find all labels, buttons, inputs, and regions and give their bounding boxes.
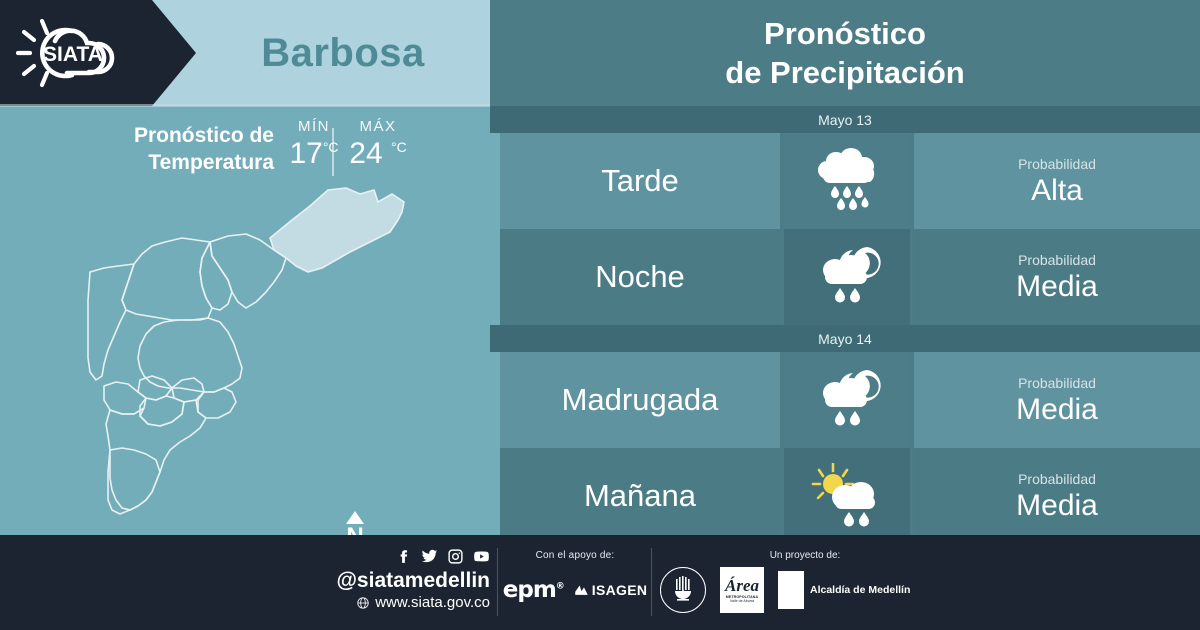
- support-block: Con el apoyo de: epm® ISAGEN: [505, 550, 645, 603]
- city-title: Barbosa: [196, 0, 490, 106]
- forecast-row-noche[interactable]: Noche Probabilidad Media: [490, 229, 1200, 325]
- temperature-max: MÁX 24 °C: [338, 118, 418, 171]
- probability-caption: Probabilidad: [1018, 470, 1096, 488]
- website-url[interactable]: www.siata.gov.co: [375, 593, 490, 612]
- temperature-max-label: MÁX: [338, 118, 418, 135]
- probability-cell-tarde: Probabilidad Alta: [914, 133, 1200, 229]
- epm-logo: epm®: [503, 577, 564, 603]
- temperature-title-line1: Pronóstico de: [134, 124, 274, 147]
- area-logo-script: Área: [725, 577, 759, 594]
- rain-cloud-icon: [784, 133, 910, 229]
- footer: @siatamedellin www.siata.gov.co Con el a…: [0, 535, 1200, 630]
- youtube-icon[interactable]: [473, 548, 490, 565]
- alcaldia-shield-icon: [778, 571, 804, 609]
- epm-logo-text: epm: [503, 577, 556, 603]
- probability-caption: Probabilidad: [1018, 251, 1096, 269]
- footer-divider-2: [651, 548, 652, 616]
- isagen-logo-text: ISAGEN: [592, 582, 647, 598]
- support-logos: epm® ISAGEN: [505, 577, 645, 603]
- map-region-barbosa: [270, 188, 404, 272]
- precipitation-title: Pronóstico de Precipitación: [490, 0, 1200, 106]
- alcaldia-label: Alcaldía de Medellín: [810, 584, 910, 596]
- facebook-icon[interactable]: [395, 548, 412, 565]
- website-line[interactable]: www.siata.gov.co: [300, 593, 490, 612]
- left-header: SIATA Barbosa: [0, 0, 490, 106]
- instagram-icon[interactable]: [447, 548, 464, 565]
- area-logo-line2: Valle de Aburrá: [730, 600, 754, 604]
- project-logos: Área METROPOLITANA Valle de Aburrá Alcal…: [660, 567, 960, 613]
- forecast-row-madrugada[interactable]: Madrugada Probabilidad Media: [490, 352, 1200, 448]
- siata-logo-text: SIATA: [43, 43, 103, 66]
- temperature-title-line2: Temperatura: [148, 151, 274, 174]
- universidad-de-antioquia-seal: [660, 567, 706, 613]
- period-label-madrugada: Madrugada: [500, 352, 780, 448]
- social-block: @siatamedellin www.siata.gov.co: [300, 545, 490, 612]
- alcaldia-de-medellin-logo: Alcaldía de Medellín: [778, 571, 910, 609]
- temperature-max-value: 24 °C: [338, 137, 418, 171]
- isagen-mark-icon: [574, 583, 589, 598]
- support-caption: Con el apoyo de:: [505, 550, 645, 561]
- temperature-title: Pronóstico de Temperatura: [62, 122, 274, 176]
- sun-cloud-rain-icon: [784, 448, 910, 544]
- weather-forecast-poster: SIATA Barbosa Pronóstico de Temperatura …: [0, 0, 1200, 630]
- precipitation-title-line2: de Precipitación: [725, 53, 964, 92]
- globe-icon: [356, 596, 370, 610]
- probability-caption: Probabilidad: [1018, 155, 1096, 173]
- social-handle[interactable]: @siatamedellin: [300, 568, 490, 593]
- isagen-logo: ISAGEN: [574, 582, 647, 598]
- period-label-noche: Noche: [500, 229, 780, 325]
- forecast-row-tarde[interactable]: Tarde: [490, 133, 1200, 229]
- probability-cell-madrugada: Probabilidad Media: [914, 352, 1200, 448]
- max-unit: °C: [391, 139, 407, 155]
- footer-divider-1: [497, 548, 498, 616]
- precipitation-panel: Pronóstico de Precipitación Mayo 13 Mayo…: [490, 0, 1200, 535]
- temperature-divider: [332, 128, 334, 176]
- forecast-row-manana[interactable]: Mañana: [490, 448, 1200, 544]
- period-label-manana: Mañana: [500, 448, 780, 544]
- probability-caption: Probabilidad: [1018, 374, 1096, 392]
- min-number: 17: [289, 137, 322, 170]
- probability-value: Media: [1016, 488, 1098, 523]
- date-band-mayo-13: Mayo 13: [490, 106, 1200, 133]
- left-panel: SIATA Barbosa Pronóstico de Temperatura …: [0, 0, 490, 535]
- social-icons[interactable]: [300, 545, 490, 567]
- period-label-tarde: Tarde: [500, 133, 780, 229]
- twitter-icon[interactable]: [421, 548, 438, 565]
- moon-cloud-rain-icon: [784, 229, 910, 325]
- probability-cell-noche: Probabilidad Media: [914, 229, 1200, 325]
- aburra-valley-map: N: [60, 180, 460, 530]
- project-block: Un proyecto de:: [660, 550, 960, 613]
- probability-value: Media: [1016, 269, 1098, 304]
- header-divider: [0, 104, 490, 107]
- area-metropolitana-logo: Área METROPOLITANA Valle de Aburrá: [720, 567, 764, 613]
- probability-value: Media: [1016, 392, 1098, 427]
- precipitation-title-line1: Pronóstico: [764, 14, 926, 53]
- moon-cloud-rain-icon: [784, 352, 910, 448]
- sun-cloud-icon: SIATA: [12, 13, 132, 93]
- date-band-mayo-14: Mayo 14: [490, 325, 1200, 352]
- probability-value: Alta: [1031, 173, 1083, 208]
- max-number: 24: [349, 137, 382, 170]
- probability-cell-manana: Probabilidad Media: [914, 448, 1200, 544]
- min-unit: °C: [323, 139, 339, 155]
- siata-logo-chevron: SIATA: [0, 0, 196, 106]
- project-caption: Un proyecto de:: [690, 550, 920, 561]
